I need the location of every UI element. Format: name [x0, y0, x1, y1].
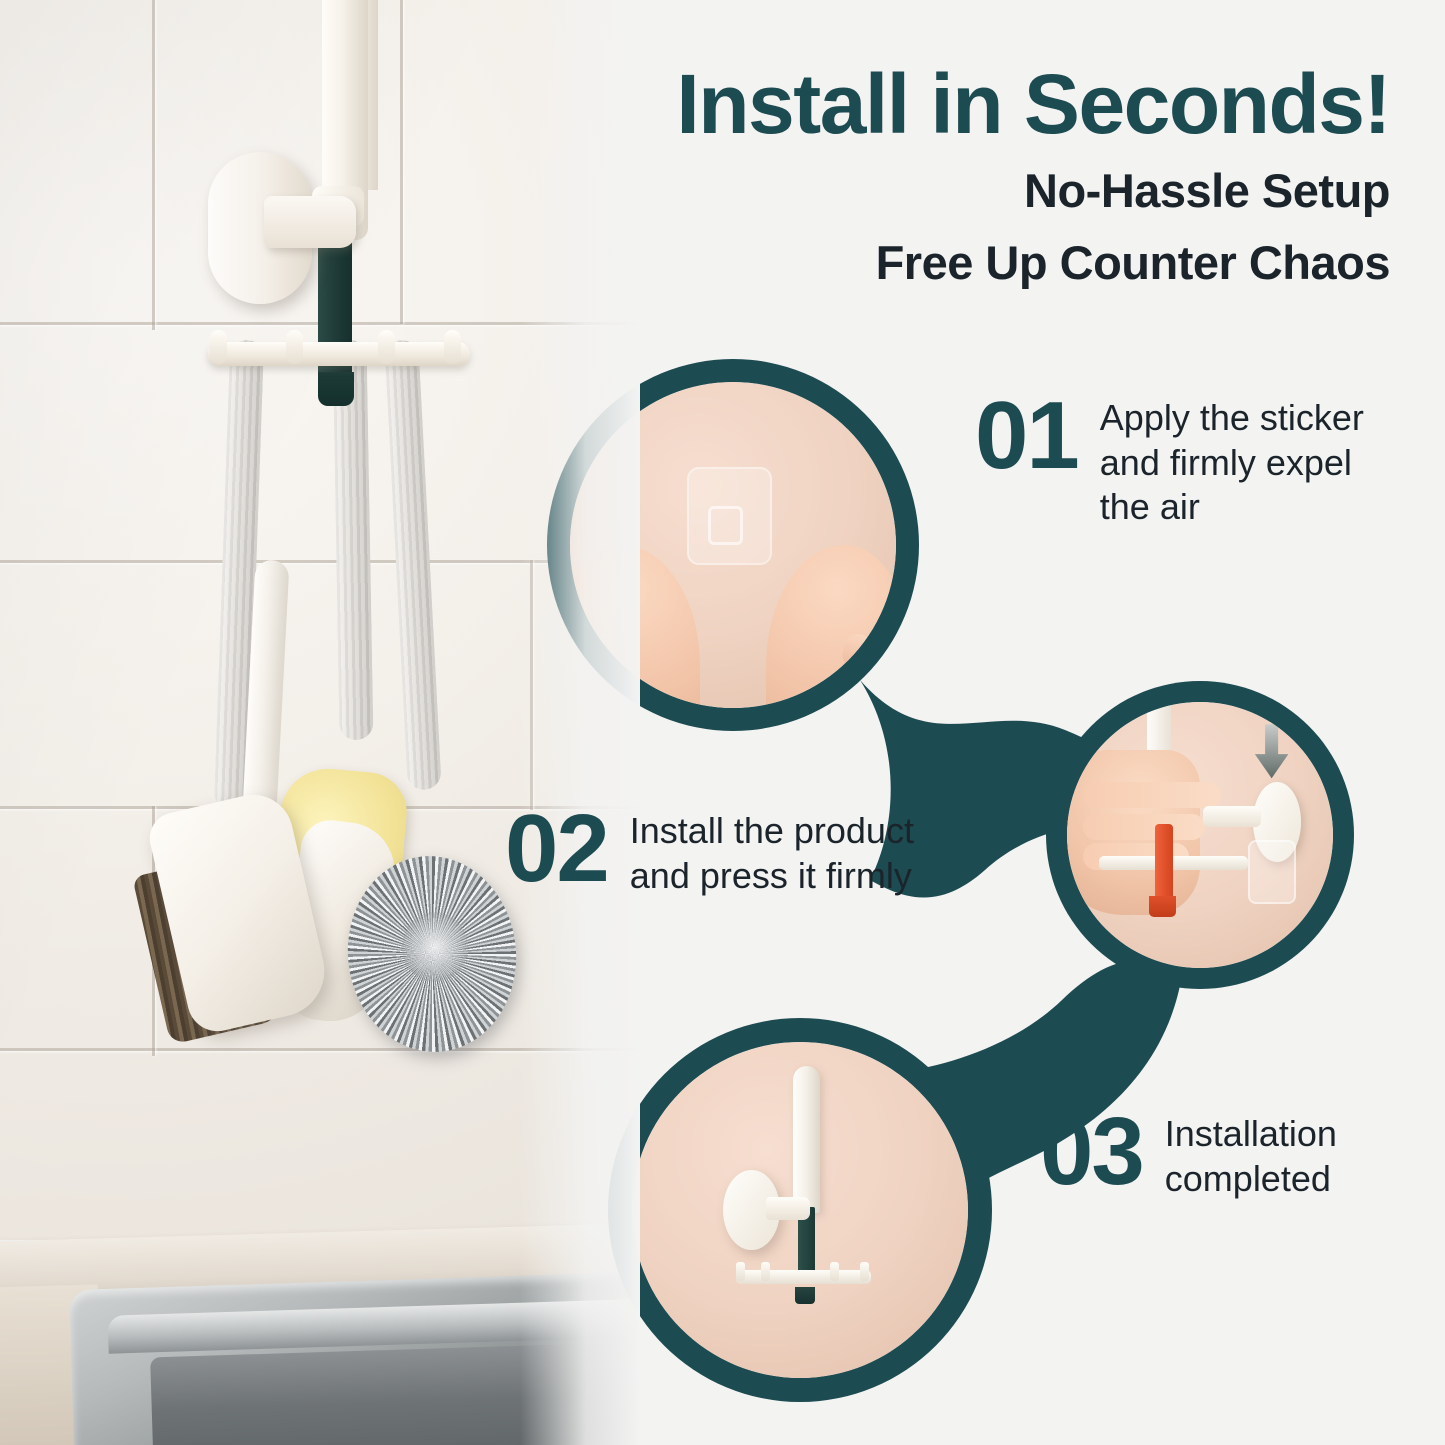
- step-3-number: 03: [1040, 1108, 1143, 1196]
- step-2-photo-bubble: [1067, 702, 1333, 968]
- step-2-photo: [1067, 702, 1333, 968]
- step-3-photo-bubble: [632, 1042, 968, 1378]
- step-2-label: 02 Install the product and press it firm…: [505, 805, 914, 898]
- header-block: Install in Seconds! No-Hassle Setup Free…: [676, 60, 1390, 291]
- wall-mount-tab: [766, 1197, 810, 1221]
- clear-adhesive-pad: [1248, 840, 1296, 904]
- page-title: Install in Seconds!: [676, 60, 1390, 148]
- mop-pole: [793, 1066, 820, 1214]
- orange-marker: [1155, 824, 1174, 904]
- holder-hook: [761, 1262, 770, 1280]
- holder-arm: [1203, 806, 1262, 827]
- step-3-label: 03 Installation completed: [1040, 1108, 1337, 1201]
- right-hand: [766, 545, 896, 708]
- step-2-text: Install the product and press it firmly: [630, 809, 914, 898]
- holder-hook: [860, 1262, 869, 1280]
- orange-marker-foot: [1149, 896, 1176, 917]
- finger: [1083, 814, 1205, 841]
- step-1-label: 01 Apply the sticker and firmly expel th…: [975, 392, 1364, 530]
- subtitle-line-2: Free Up Counter Chaos: [676, 234, 1390, 291]
- press-down-arrow-icon: [1253, 723, 1290, 782]
- adhesive-sticker: [687, 467, 772, 565]
- mop-pole-cap: [795, 1287, 815, 1304]
- holder-hook: [736, 1262, 745, 1280]
- holder-hook: [830, 1262, 839, 1280]
- holder-rail: [1099, 856, 1248, 869]
- step-2-number: 02: [505, 805, 608, 893]
- step-3-text: Installation completed: [1165, 1112, 1337, 1201]
- right-index-finger: [840, 631, 875, 672]
- step-3-photo: [632, 1042, 968, 1378]
- photo-edge-fade: [520, 0, 640, 1445]
- subtitle-line-1: No-Hassle Setup: [676, 162, 1390, 219]
- step-1-text: Apply the sticker and firmly expel the a…: [1100, 396, 1364, 530]
- finger: [1083, 782, 1221, 809]
- infographic-stage: Install in Seconds! No-Hassle Setup Free…: [0, 0, 1445, 1445]
- step-1-number: 01: [975, 392, 1078, 480]
- holder-rail: [736, 1270, 870, 1283]
